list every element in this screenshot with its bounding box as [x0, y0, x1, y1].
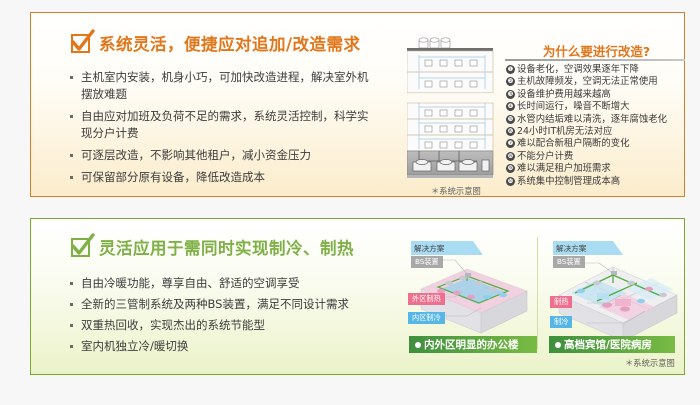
why-title-divider: [505, 59, 685, 61]
list-item: ❼难以配合新租户隔断的变化: [506, 138, 691, 150]
list-item-text: 难以配合新租户隔断的变化: [517, 138, 630, 149]
list-item: ❷主机故障频发，空调无法正常使用: [506, 76, 691, 88]
list-item: 双重热回收，实现杰出的系统节能型: [69, 317, 379, 334]
panel2-figure-column: 解决方案 BS装置 外区制热 内区制冷 内外区明显的办公楼: [403, 227, 683, 372]
panel-cooling-heating: 灵活应用于需同时实现制冷、制热 自由冷暖功能，尊享自由、舒适的空调享受 全新的三…: [30, 218, 685, 375]
label-perimeter-heating: 外区制热: [408, 293, 445, 305]
list-item: 自由冷暖功能，尊享自由、舒适的空调享受: [69, 275, 379, 292]
list-item-text: 设备老化，空调效果逐年下降: [517, 64, 639, 75]
list-item: 室内机独立冷/暖切换: [69, 338, 379, 355]
label-bs-unit: BS装置: [553, 256, 585, 268]
panel2-heading-text: 灵活应用于需同时实现制冷、制热: [99, 235, 354, 259]
panel-flexible-system: 系统灵活，便捷应对追加/改造需求 主机室内安装，机身小巧，可加快改造进程，解决室…: [30, 12, 685, 197]
page-root: 系统灵活，便捷应对追加/改造需求 主机室内安装，机身小巧，可加快改造进程，解决室…: [0, 0, 700, 405]
list-item-text: 主机故障频发，空调无法正常使用: [517, 76, 658, 87]
list-number: ❷: [506, 77, 515, 86]
diagram-office-building: 解决方案 BS装置 外区制热 内区制冷 内外区明显的办公楼: [405, 233, 538, 355]
list-number: ❽: [506, 152, 515, 161]
panel1-heading: 系统灵活，便捷应对追加/改造需求: [71, 31, 389, 55]
list-item: ❸设备维护费用越来越高: [506, 89, 691, 101]
checkmark-box-icon: [71, 34, 90, 53]
panel2-bullet-list: 自由冷暖功能，尊享自由、舒适的空调享受 全新的三管制系统及两种BS装置，满足不同…: [69, 275, 379, 355]
caption-text: 内外区明显的办公楼: [424, 337, 519, 352]
list-item: 可逐层改造，不影响其他租户，减小资金压力: [69, 147, 369, 164]
label-heating: 制热: [550, 296, 572, 308]
bullet-dot-icon: [555, 342, 561, 348]
list-item-text: 难以满足租户加班需求: [517, 163, 611, 174]
list-number: ❻: [506, 127, 515, 136]
panel1-figure-column: 为什么要进行改造? ❶设备老化，空调效果逐年下降 ❷主机故障频发，空调无法正常使…: [403, 27, 681, 197]
list-item-text: 系统集中控制管理成本高: [517, 176, 620, 187]
caption-text: 高档宾馆/医院病房: [564, 337, 652, 352]
list-item: 主机室内安装，机身小巧，可加快改造进程，解决室外机摆放难题: [69, 69, 369, 103]
panel1-figure-note: ＊系统示意图: [431, 185, 481, 197]
list-item: ❽不能分户计费: [506, 151, 691, 163]
list-item: 自由应对加班及负荷不足的需求，系统灵活控制，科学实现分户计费: [69, 108, 369, 142]
label-interior-cooling: 内区制冷: [408, 312, 445, 324]
diagram-caption-office: 内外区明显的办公楼: [409, 336, 537, 353]
list-number: ❶: [506, 65, 515, 74]
list-number: ❼: [506, 139, 515, 148]
label-cooling: 制冷: [550, 316, 572, 328]
list-item: ❿系统集中控制管理成本高: [506, 176, 691, 188]
panel2-text-column: 灵活应用于需同时实现制冷、制热 自由冷暖功能，尊享自由、舒适的空调享受 全新的三…: [69, 235, 389, 359]
list-item: ❶设备老化，空调效果逐年下降: [506, 64, 691, 76]
solution-tag-label: 解决方案: [556, 243, 586, 254]
list-item: ❺水管内结垢难以清洗，逐年腐蚀老化: [506, 114, 691, 126]
why-renovate-title: 为什么要进行改造?: [509, 41, 684, 60]
list-item-text: 不能分户计费: [517, 151, 573, 162]
list-item: ❾难以满足租户加班需求: [506, 163, 691, 175]
checkmark-box-icon: [71, 238, 90, 257]
list-item-text: 设备维护费用越来越高: [517, 89, 611, 100]
building-system-diagram: [407, 35, 505, 183]
panel2-heading: 灵活应用于需同时实现制冷、制热: [71, 235, 389, 259]
list-number: ❸: [506, 90, 515, 99]
list-item: ❻24小时IT机房无法对应: [506, 126, 691, 138]
panel2-figure-note: ＊系统示意图: [625, 357, 675, 369]
list-number: ❿: [506, 177, 515, 186]
diagram-caption-hotel: 高档宾馆/医院病房: [549, 336, 675, 353]
list-item: 可保留部分原有设备，降低改造成本: [69, 169, 369, 186]
panel1-text-column: 系统灵活，便捷应对追加/改造需求 主机室内安装，机身小巧，可加快改造进程，解决室…: [69, 31, 389, 191]
panel1-heading-text: 系统灵活，便捷应对追加/改造需求: [99, 31, 361, 55]
list-number: ❹: [506, 102, 515, 111]
solution-tag-label: 解决方案: [414, 243, 444, 254]
label-bs-unit: BS装置: [411, 256, 443, 268]
panel1-bullet-list: 主机室内安装，机身小巧，可加快改造进程，解决室外机摆放难题 自由应对加班及负荷不…: [69, 69, 369, 186]
list-number: ❾: [506, 164, 515, 173]
list-item: ❹长时间运行，噪音不断增大: [506, 101, 691, 113]
list-number: ❺: [506, 115, 515, 124]
list-item: 全新的三管制系统及两种BS装置，满足不同设计需求: [69, 296, 379, 313]
list-item-text: 24小时IT机房无法对应: [517, 126, 612, 137]
diagram-hotel-hospital: 解决方案 BS装置 制热 制冷 高档宾馆/医院病房: [541, 233, 674, 355]
list-item-text: 长时间运行，噪音不断增大: [517, 101, 630, 112]
why-renovate-list: ❶设备老化，空调效果逐年下降 ❷主机故障频发，空调无法正常使用 ❸设备维护费用越…: [506, 64, 691, 188]
bullet-dot-icon: [415, 342, 421, 348]
list-item-text: 水管内结垢难以清洗，逐年腐蚀老化: [517, 114, 667, 125]
